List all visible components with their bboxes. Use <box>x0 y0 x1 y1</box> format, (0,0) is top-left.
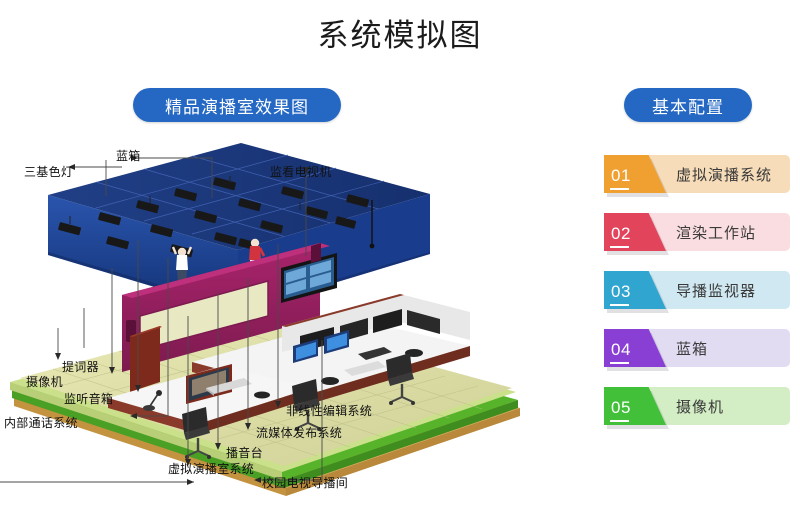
label-streaming-publish: 流媒体发布系统 <box>256 424 342 441</box>
studio-render-pill-label: 精品演播室效果图 <box>165 93 309 118</box>
config-item-01-number: 01 <box>604 167 631 184</box>
config-item-03[interactable]: 03 导播监视器 <box>604 271 790 309</box>
label-monitor-speaker: 监听音箱 <box>64 390 113 407</box>
label-three-color-light: 三基色灯 <box>24 163 73 180</box>
label-camera: 摄像机 <box>26 373 63 390</box>
config-item-03-number: 03 <box>604 283 631 300</box>
basic-config-pill[interactable]: 基本配置 <box>624 88 752 122</box>
label-campus-tv-control: 校园电视导播间 <box>262 474 348 491</box>
config-item-05-number: 05 <box>604 399 631 416</box>
label-announcer-desk: 播音台 <box>226 444 263 461</box>
page-root: 系统模拟图 精品演播室效果图 基本配置 01 虚拟演播系统 02 渲染工作站 <box>0 0 800 505</box>
studio-render-pill[interactable]: 精品演播室效果图 <box>133 88 341 122</box>
config-item-05-label: 摄像机 <box>676 396 724 417</box>
label-nonlinear-editing: 非线性编辑系统 <box>286 402 372 419</box>
config-item-02[interactable]: 02 渲染工作站 <box>604 213 790 251</box>
label-blue-box: 蓝箱 <box>116 147 141 164</box>
config-item-04-label: 蓝箱 <box>676 338 708 359</box>
label-monitor-tv: 监看电视机 <box>270 163 332 180</box>
studio-3d-illustration: 三基色灯 蓝箱 监看电视机 提词器 摄像机 监听音箱 内部通话系统 非线性编辑系… <box>0 140 540 505</box>
config-item-02-label: 渲染工作站 <box>676 222 756 243</box>
config-item-02-number: 02 <box>604 225 631 242</box>
label-teleprompter: 提词器 <box>62 358 99 375</box>
config-item-01[interactable]: 01 虚拟演播系统 <box>604 155 790 193</box>
config-item-03-label: 导播监视器 <box>676 280 756 301</box>
config-item-05[interactable]: 05 摄像机 <box>604 387 790 425</box>
config-list: 01 虚拟演播系统 02 渲染工作站 03 导播监视器 04 <box>604 155 790 445</box>
page-title: 系统模拟图 <box>0 10 800 55</box>
label-virtual-studio: 虚拟演播室系统 <box>168 460 254 477</box>
studio-diagram-svg <box>0 140 540 505</box>
config-item-04[interactable]: 04 蓝箱 <box>604 329 790 367</box>
config-item-04-number: 04 <box>604 341 631 358</box>
label-intercom-system: 内部通话系统 <box>4 414 78 431</box>
basic-config-pill-label: 基本配置 <box>652 93 724 118</box>
config-item-01-label: 虚拟演播系统 <box>676 164 772 185</box>
